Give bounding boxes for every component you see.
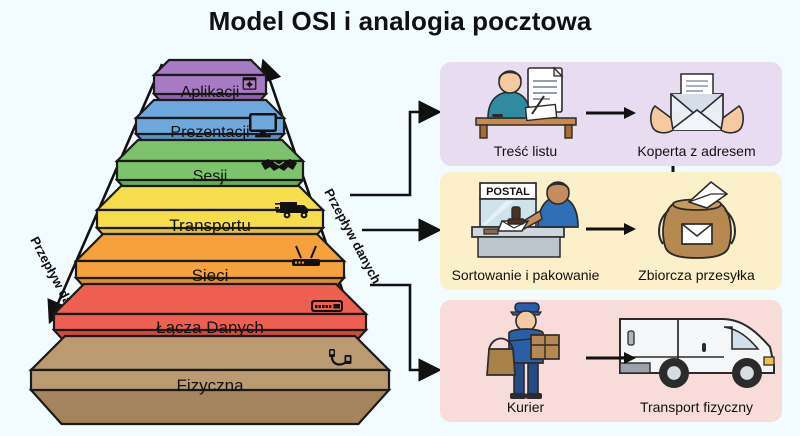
- pyramid-layer[interactable]: Prezentacji: [136, 100, 284, 134]
- hands-holding-envelope-icon: [611, 62, 782, 143]
- connector-to-delivery-panel: [370, 285, 434, 370]
- pyramid-layer[interactable]: Aplikacji: [154, 60, 266, 94]
- connector-to-letter-panel: [350, 112, 434, 195]
- page-title: Model OSI i analogia pocztowa: [0, 6, 800, 37]
- pyramid-layer[interactable]: Sesji: [117, 140, 303, 180]
- pyramid-layer[interactable]: Fizyczna: [31, 336, 389, 390]
- pyramid-layer[interactable]: Transportu: [97, 186, 323, 228]
- panel-inner-arrow: [584, 106, 638, 120]
- courier-with-parcel-icon: [440, 300, 611, 399]
- delivery-van-icon: [611, 300, 782, 399]
- panel-inner-arrow: [584, 222, 638, 236]
- pyramid-to-panel-connectors: [350, 50, 450, 390]
- panel-cell-label: Treść listu: [494, 143, 557, 166]
- delivery-panel[interactable]: Kurier Transport fizyczny: [440, 300, 782, 422]
- postal-clerk-counter-icon: POSTAL: [440, 172, 611, 267]
- panel-cell-label: Transport fizyczny: [640, 399, 753, 422]
- person-writing-letter-icon: [440, 62, 611, 143]
- pyramid-layer[interactable]: Łącza Danych: [54, 284, 366, 330]
- diagram-canvas: Model OSI i analogia pocztowa Przepływ d…: [0, 0, 800, 436]
- panel-cell-label: Zbiorcza przesyłka: [638, 267, 755, 290]
- panel-cell-label: Sortowanie i pakowanie: [452, 267, 600, 290]
- svg-text:POSTAL: POSTAL: [486, 186, 530, 198]
- mail-sack-icon: [611, 172, 782, 267]
- panel-cell-label: Koperta z adresem: [637, 143, 755, 166]
- sorting-panel[interactable]: POSTAL Sortowanie i pakowanie Zbiorcza p…: [440, 172, 782, 290]
- letter-panel[interactable]: Treść listu Koperta z adresem: [440, 62, 782, 166]
- panel-inner-arrow: [584, 351, 638, 365]
- panel-cell-label: Kurier: [507, 399, 544, 422]
- pyramid-layer[interactable]: Sieci: [76, 234, 344, 278]
